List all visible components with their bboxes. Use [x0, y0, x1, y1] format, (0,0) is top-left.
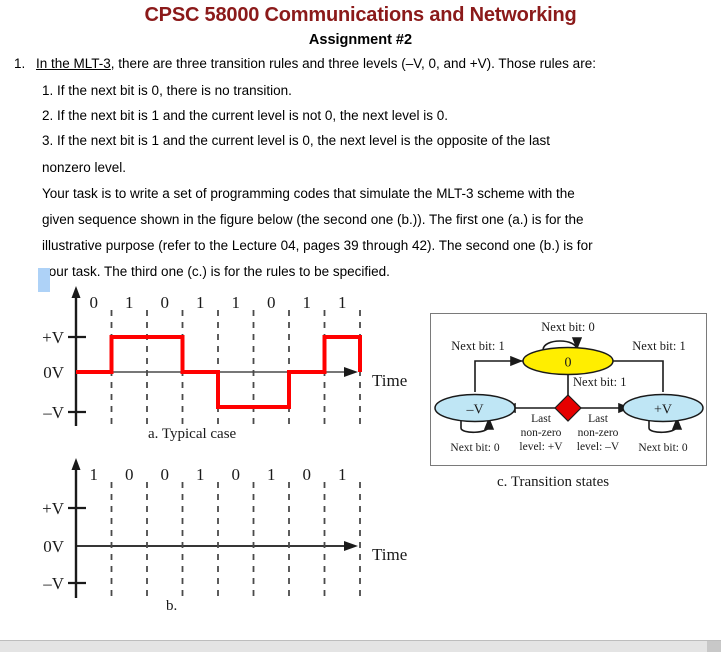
- bit-label: 0: [161, 293, 170, 312]
- xlabel-time-a: Time: [372, 371, 407, 390]
- body-line-rule1: 1. If the next bit is 0, there is no tra…: [42, 83, 292, 98]
- bit-label: 0: [161, 465, 170, 484]
- bit-label: 1: [267, 465, 276, 484]
- diamond-left-label-line1: Last: [531, 413, 552, 425]
- x-axis-arrow-b: [344, 541, 358, 551]
- bit-label: 0: [125, 465, 134, 484]
- diamond-left-label-line3: level: +V: [519, 441, 563, 453]
- ylabel-plusV-b: +V: [42, 499, 65, 518]
- edge-neg-to-zero: [475, 361, 523, 392]
- question-number: 1.: [14, 56, 25, 71]
- ylabel-minusV-b: –V: [42, 574, 65, 593]
- diamond-left-label-line2: non-zero: [521, 427, 562, 439]
- figure-a-typical-case: +V 0V –V Time 01011011 a. Typical case: [28, 286, 428, 451]
- bit-labels-b: 10010101: [90, 465, 347, 484]
- ylabel-plusV-a: +V: [42, 328, 65, 347]
- figure-c-caption: c. Transition states: [497, 474, 609, 491]
- state-label-posV: +V: [654, 403, 672, 418]
- bit-label: 1: [125, 293, 134, 312]
- bit-label: 1: [90, 465, 99, 484]
- edge-label-pos-to-zero: Next bit: 1: [632, 339, 685, 353]
- x-axis-arrow-a: [344, 367, 358, 377]
- page-title: CPSC 58000 Communications and Networking: [0, 4, 721, 27]
- edge-label-zero-self: Next bit: 0: [541, 320, 594, 334]
- bit-label: 1: [338, 465, 347, 484]
- state-diagram-svg: Next bit: 0 Next bit: 1 Next bit: 1 Next…: [431, 314, 705, 464]
- edge-label-pos-self: Next bit: 0: [638, 442, 687, 454]
- figure-b-caption: b.: [166, 598, 177, 615]
- edge-label-zero-to-diamond: Next bit: 1: [573, 375, 626, 389]
- diamond-right-label-line3: level: –V: [577, 441, 620, 453]
- bit-labels-a: 01011011: [90, 293, 347, 312]
- figure-b-student-task: +V 0V –V Time 10010101 b.: [28, 458, 428, 623]
- body-line-task-3: illustrative purpose (refer to the Lectu…: [42, 238, 593, 253]
- state-diagram-box: Next bit: 0 Next bit: 1 Next bit: 1 Next…: [430, 313, 707, 466]
- bit-label: 0: [232, 465, 241, 484]
- xlabel-time-b: Time: [372, 545, 407, 564]
- diamond-right-label-line2: non-zero: [578, 427, 619, 439]
- bit-label: 1: [196, 293, 205, 312]
- horizontal-scrollbar[interactable]: [0, 640, 721, 652]
- bit-label: 0: [90, 293, 99, 312]
- state-label-negV: –V: [465, 403, 483, 418]
- body-line-1: In the MLT-3, there are three transition…: [36, 56, 596, 71]
- y-axis-arrow-b: [72, 458, 81, 470]
- bit-label: 1: [303, 293, 312, 312]
- decision-diamond-node: [555, 395, 581, 421]
- scrollbar-thumb[interactable]: [707, 641, 721, 652]
- body-line-rule3-cont: nonzero level.: [42, 160, 126, 175]
- edge-label-neg-to-zero: Next bit: 1: [451, 339, 504, 353]
- body-line-rule3: 3. If the next bit is 1 and the current …: [42, 133, 550, 148]
- assignment-subtitle: Assignment #2: [0, 32, 721, 48]
- edge-label-neg-self: Next bit: 0: [450, 442, 499, 454]
- ylabel-minusV-a: –V: [42, 403, 65, 422]
- y-axis-arrow-a: [72, 286, 81, 298]
- bit-boundary-gridlines-b: [112, 482, 361, 598]
- state-label-zero: 0: [565, 356, 572, 371]
- figure-a-caption: a. Typical case: [148, 426, 236, 443]
- bit-label: 1: [232, 293, 241, 312]
- body-line-1-rest: , there are three transition rules and t…: [111, 56, 596, 71]
- body-line-task-1: Your task is to write a set of programmi…: [42, 186, 575, 201]
- document-page: CPSC 58000 Communications and Networking…: [0, 0, 721, 640]
- diamond-right-label-line1: Last: [588, 413, 609, 425]
- body-line-task-2: given sequence shown in the figure below…: [42, 212, 584, 227]
- ylabel-0V-a: 0V: [43, 363, 65, 382]
- mlt3-link: In the MLT-3: [36, 56, 111, 71]
- bit-label: 1: [338, 293, 347, 312]
- bit-label: 0: [267, 293, 276, 312]
- figure-b-svg: +V 0V –V Time 10010101: [28, 458, 428, 623]
- ylabel-0V-b: 0V: [43, 537, 65, 556]
- bit-label: 0: [303, 465, 312, 484]
- body-line-rule2: 2. If the next bit is 1 and the current …: [42, 108, 448, 123]
- body-line-task-4: your task. The third one (c.) is for the…: [42, 264, 390, 279]
- bit-label: 1: [196, 465, 205, 484]
